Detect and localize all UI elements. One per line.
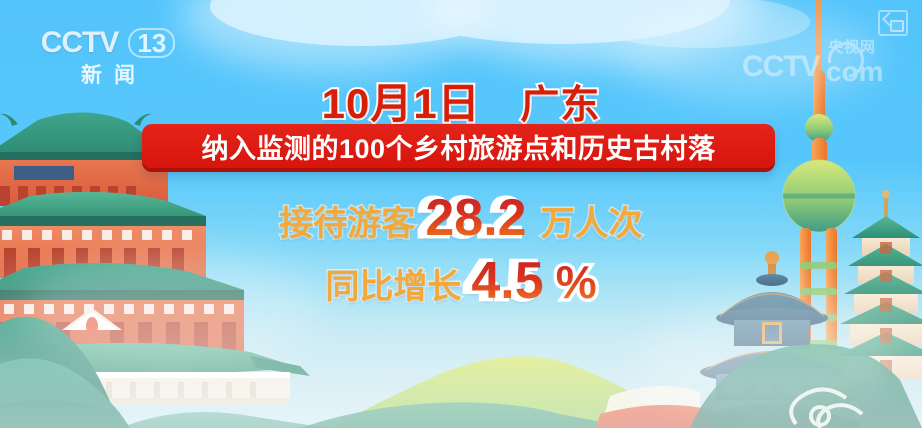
statistics-block: 接待游客 28.2 28.2 万人次 同比增长 4.5 4.5 % % [0, 192, 922, 308]
channel-logo-number: 13 [128, 28, 175, 58]
watermark-cn: 央视网 [828, 36, 876, 57]
channel-logo-cctv: CCTV [41, 28, 119, 58]
stat-unit-wrap: % % [556, 259, 597, 305]
stat-row: 同比增长 4.5 4.5 % % [0, 255, 922, 308]
red-banner: 纳入监测的100个乡村旅游点和历史古村落 [142, 124, 775, 168]
headline-date: 10月1日 [322, 80, 481, 127]
stat-value: 28.2 [425, 189, 526, 247]
stat-row: 接待游客 28.2 28.2 万人次 [0, 192, 922, 245]
cloud [430, 0, 760, 64]
stat-unit: % [556, 256, 597, 308]
picture-in-picture-icon[interactable] [878, 10, 908, 36]
channel-logo-slash-icon [119, 30, 128, 56]
page-title: 10月1日 广东 [0, 70, 922, 131]
headline-region: 广东 [520, 84, 600, 127]
banner-text: 纳入监测的100个乡村旅游点和历史古村落 [201, 127, 715, 166]
stat-label: 同比增长 [325, 259, 461, 308]
cloud [180, 0, 480, 70]
stat-value: 4.5 [471, 252, 543, 310]
stat-label: 接待游客 [279, 196, 415, 245]
broadcast-graphic: CCTV 13 新闻 CCTV 央视网 com 10月1日 广东 纳入监测的10… [0, 0, 922, 428]
stat-value-wrap: 4.5 4.5 [465, 255, 549, 307]
stat-unit: 万人次 [541, 196, 643, 245]
stat-value-wrap: 28.2 28.2 [419, 192, 532, 244]
